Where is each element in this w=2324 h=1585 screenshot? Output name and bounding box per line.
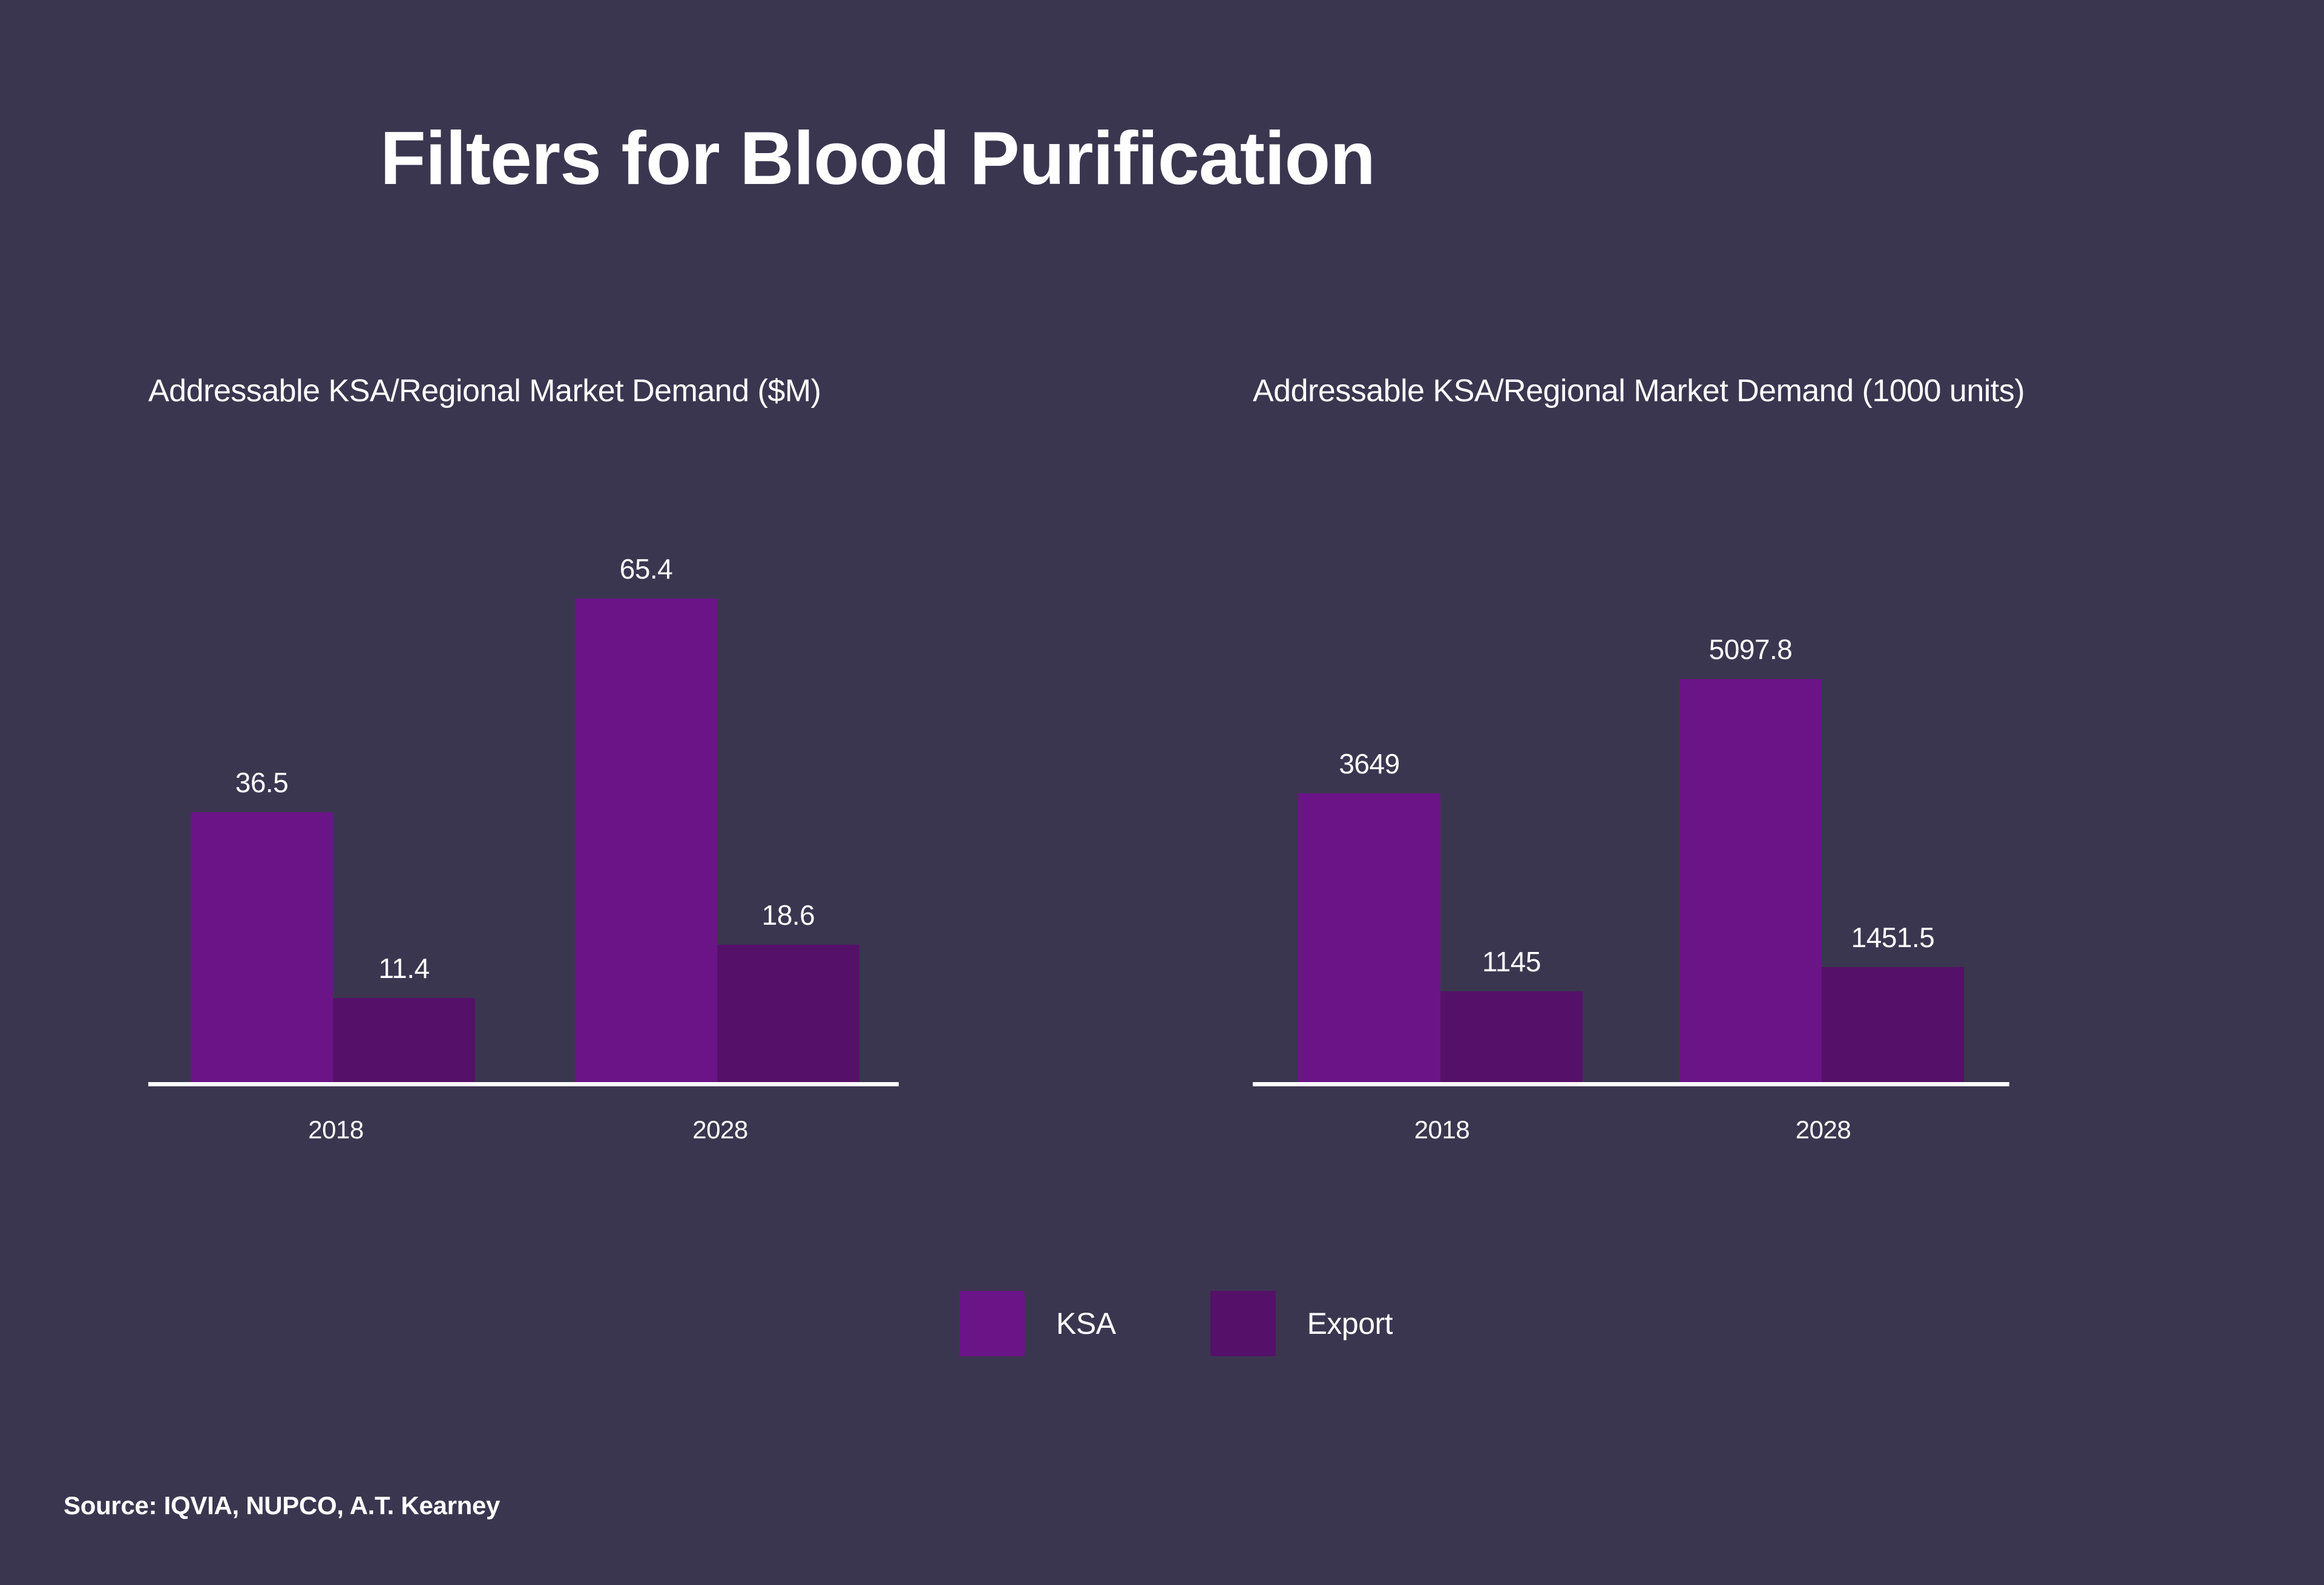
bar-ksa-2028[interactable]: 65.4 [575,599,717,1082]
chart-panel-units: Addressable KSA/Regional Market Demand (… [1253,375,2185,1086]
chart-title-money: Addressable KSA/Regional Market Demand (… [148,375,1056,407]
legend-item-ksa[interactable]: KSA [959,1291,1116,1356]
bar-group-2018: 36.5 11.4 2018 [191,812,481,1082]
legend-swatch-icon [1210,1291,1276,1356]
bar-value-label: 36.5 [235,769,289,796]
bar-value-label: 18.6 [762,901,815,929]
bar-export-2018[interactable]: 11.4 [333,998,475,1082]
bar-value-label: 5097.8 [1709,635,1793,663]
bar-value-label: 11.4 [378,954,429,982]
bar-rect [1298,793,1440,1082]
chart-panel-money: Addressable KSA/Regional Market Demand (… [148,375,1056,1086]
legend-item-export[interactable]: Export [1210,1291,1393,1356]
page-title: Filters for Blood Purification [0,121,1755,196]
plot-area-units: 3649 1145 2018 5097.8 1451.5 2028 [1253,454,2185,1086]
category-label-2028: 2028 [1679,1117,1967,1143]
bar-ksa-2018[interactable]: 36.5 [191,812,333,1082]
bar-value-label: 65.4 [620,555,673,583]
bar-value-label: 1145 [1482,948,1541,976]
bar-rect [1822,967,1964,1082]
category-label-2018: 2018 [1298,1117,1586,1143]
x-axis-line [148,1082,899,1086]
bar-rect [191,812,333,1082]
bar-rect [575,599,717,1082]
x-axis-line [1253,1082,2009,1086]
category-label-2028: 2028 [575,1117,865,1143]
bar-rect [717,945,859,1082]
chart-legend: KSA Export [959,1291,1393,1356]
bar-rect [333,998,475,1082]
bar-group-2018: 3649 1145 2018 [1298,793,1586,1082]
legend-swatch-icon [959,1291,1025,1356]
bar-rect [1679,679,1822,1082]
legend-label: Export [1307,1308,1393,1339]
bar-rect [1440,991,1583,1082]
bar-group-2028: 65.4 18.6 2028 [575,599,865,1082]
chart-title-units: Addressable KSA/Regional Market Demand (… [1253,375,2185,407]
bar-export-2028[interactable]: 18.6 [717,945,859,1082]
category-label-2018: 2018 [191,1117,481,1143]
bar-export-2028[interactable]: 1451.5 [1822,967,1964,1082]
bar-ksa-2028[interactable]: 5097.8 [1679,679,1822,1082]
bar-export-2018[interactable]: 1145 [1440,991,1583,1082]
bar-value-label: 1451.5 [1851,924,1935,951]
legend-label: KSA [1056,1308,1116,1339]
bar-ksa-2018[interactable]: 3649 [1298,793,1440,1082]
bar-group-2028: 5097.8 1451.5 2028 [1679,679,1967,1082]
source-note: Source: IQVIA, NUPCO, A.T. Kearney [64,1493,500,1518]
plot-area-money: 36.5 11.4 2018 65.4 18.6 2028 [148,454,1056,1086]
bar-value-label: 3649 [1339,750,1399,778]
